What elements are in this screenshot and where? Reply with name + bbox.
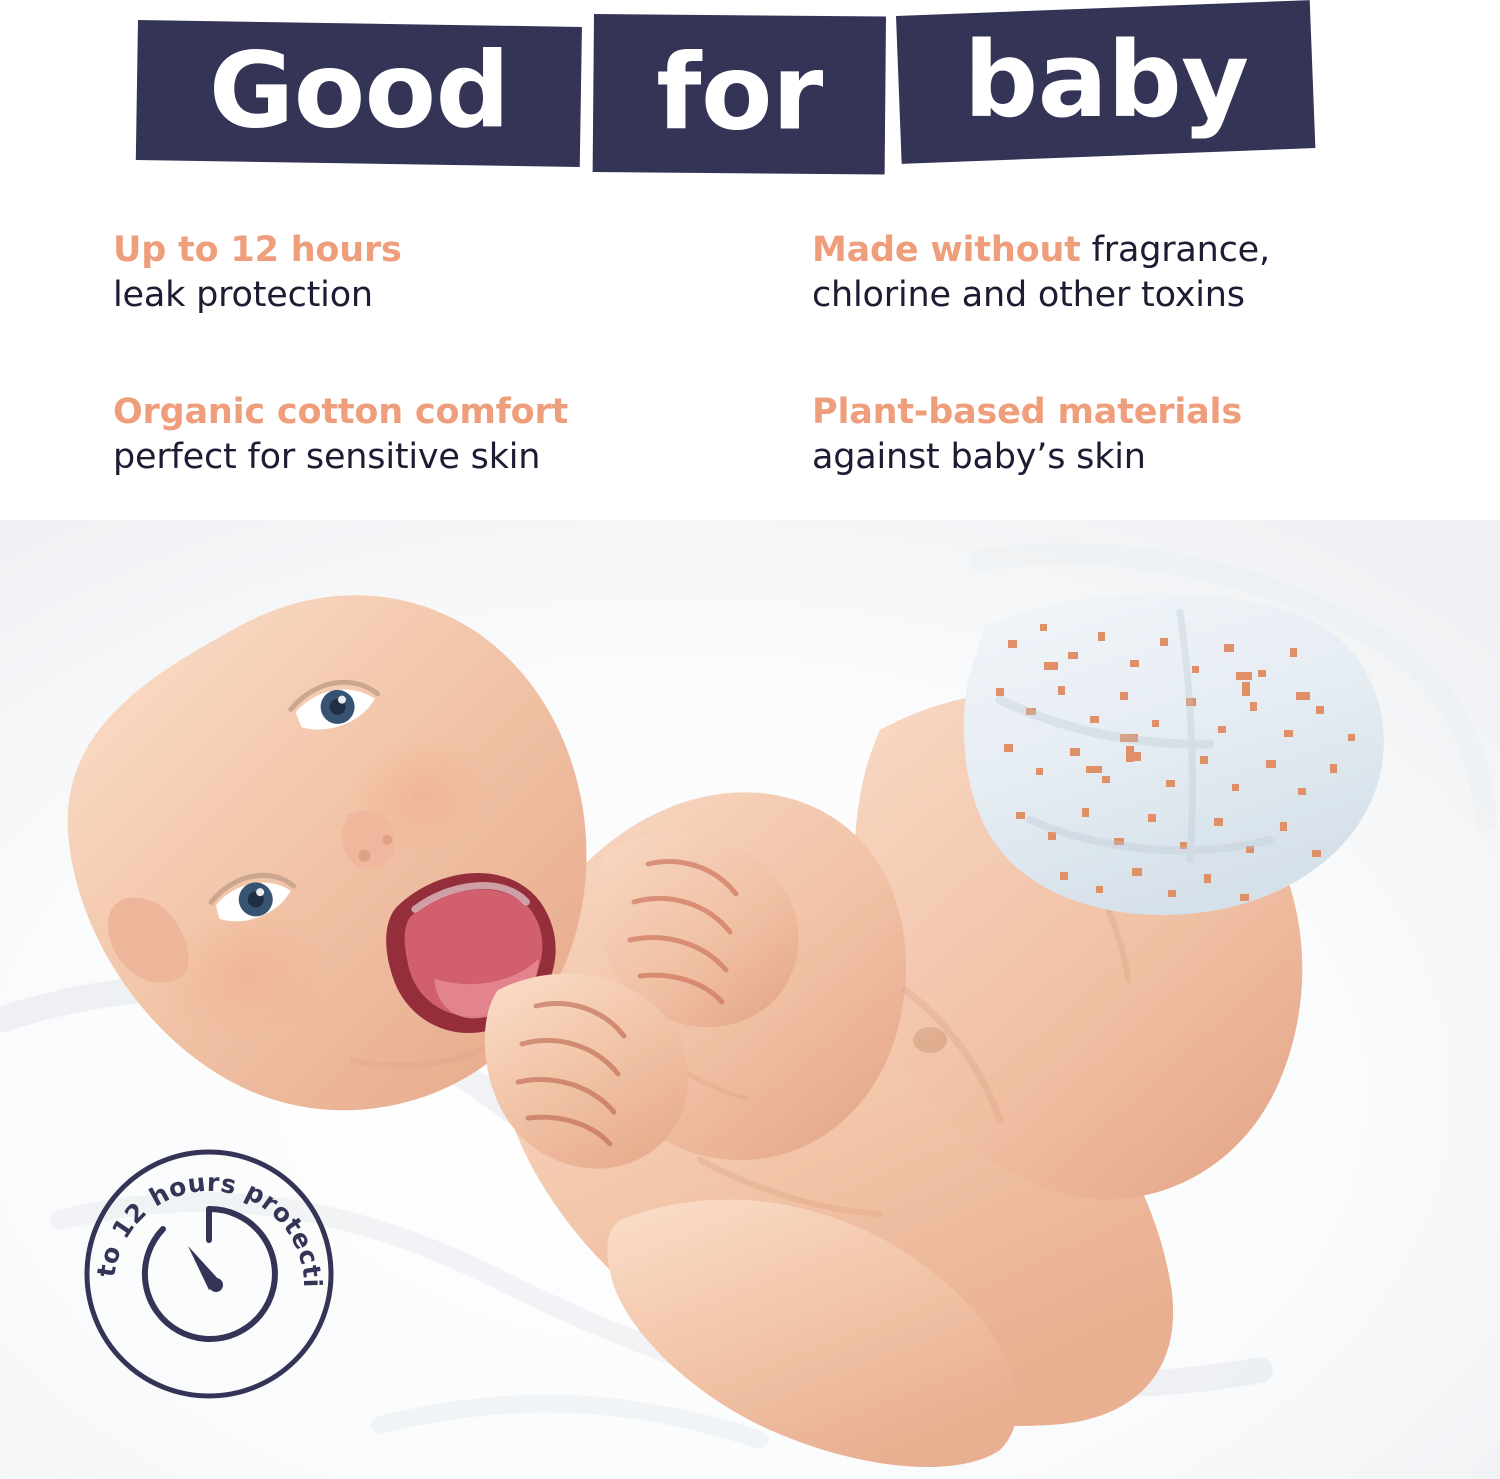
protection-badge-graphic: up to 12 hours protection — [78, 1143, 340, 1405]
protection-badge: up to 12 hours protection — [78, 1143, 340, 1405]
benefit-plant-strong: Plant-based materials — [812, 392, 1242, 432]
benefit-without-normal: fragrance, — [1081, 230, 1270, 270]
headline-word-for: for — [656, 40, 822, 144]
headline-word-good: Good — [209, 38, 510, 142]
headline: Good for baby — [0, 0, 1500, 195]
benefit-cotton-line2: perfect for sensitive skin — [113, 435, 713, 480]
benefit-item-hours: Up to 12 hours leak protection — [113, 228, 713, 318]
benefit-item-cotton: Organic cotton comfort perfect for sensi… — [113, 390, 713, 480]
benefit-hours-normal: leak protection — [113, 275, 373, 315]
benefit-item-without: Made without fragrance, chlorine and oth… — [812, 228, 1402, 318]
benefit-without-line2: chlorine and other toxins — [812, 273, 1402, 318]
benefit-without-strong: Made without — [812, 230, 1081, 270]
benefit-item-plant: Plant-based materials against baby’s ski… — [812, 390, 1402, 480]
benefit-cotton-strong: Organic cotton comfort — [113, 392, 568, 432]
benefit-hours-line2: leak protection — [113, 273, 713, 318]
headline-block-baby: baby — [896, 0, 1315, 164]
benefit-plant-line1: Plant-based materials — [812, 390, 1402, 435]
headline-word-baby: baby — [963, 28, 1248, 132]
benefit-without-normal2: chlorine and other toxins — [812, 275, 1245, 315]
benefit-list: Up to 12 hours leak protection Made with… — [0, 218, 1500, 508]
benefit-cotton-normal: perfect for sensitive skin — [113, 437, 540, 477]
headline-block-good: Good — [136, 20, 582, 167]
benefit-plant-line2: against baby’s skin — [812, 435, 1402, 480]
product-feature-panel: Good for baby Up to 12 hours leak protec… — [0, 0, 1500, 1479]
timer-hand-pivot — [209, 1278, 223, 1292]
benefit-without-line1: Made without fragrance, — [812, 228, 1402, 273]
benefit-plant-normal: against baby’s skin — [812, 437, 1146, 477]
benefit-cotton-line1: Organic cotton comfort — [113, 390, 713, 435]
headline-block-for: for — [593, 14, 886, 175]
benefit-hours-line1: Up to 12 hours — [113, 228, 713, 273]
benefit-hours-strong: Up to 12 hours — [113, 230, 402, 270]
